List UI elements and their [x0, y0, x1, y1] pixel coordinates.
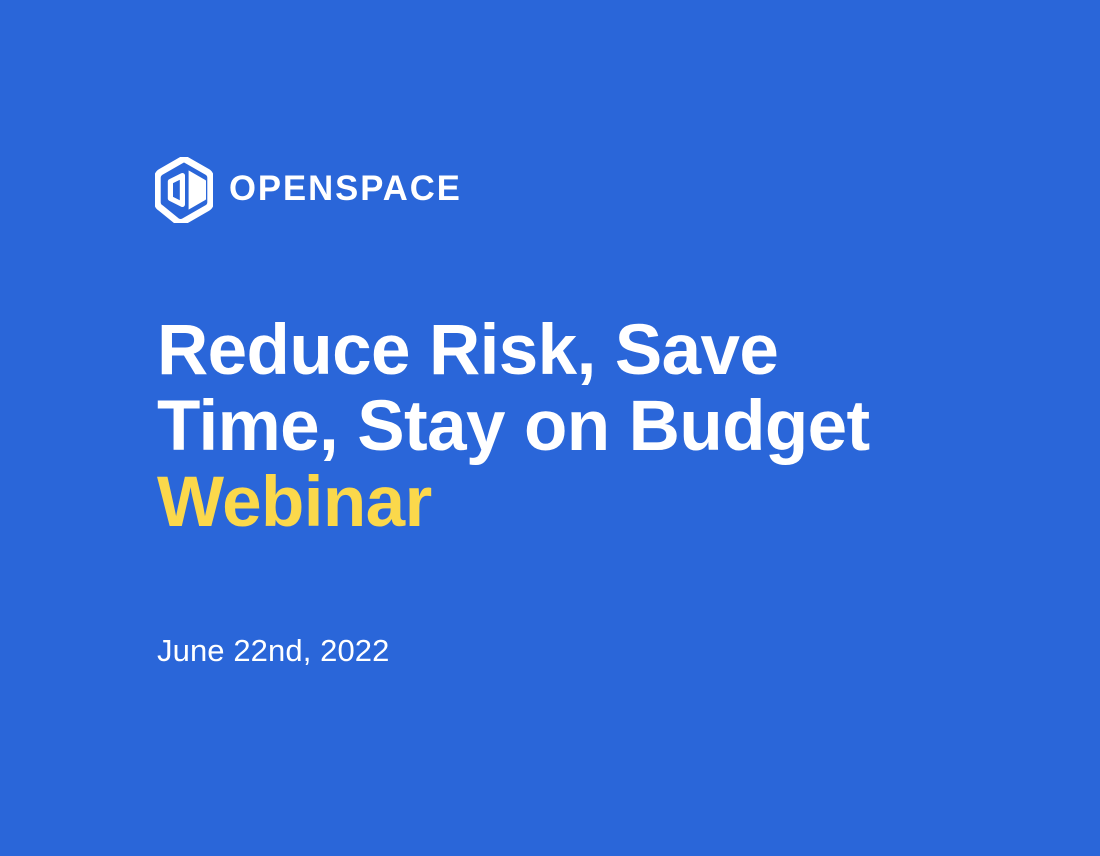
- title-line-3-accent: Webinar: [157, 465, 997, 541]
- openspace-cube-icon: [155, 157, 213, 223]
- page-title: Reduce Risk, Save Time, Stay on Budget W…: [157, 313, 997, 541]
- event-date: June 22nd, 2022: [157, 632, 390, 670]
- title-line-1: Reduce Risk, Save: [157, 313, 997, 389]
- title-line-2: Time, Stay on Budget: [157, 389, 997, 465]
- brand-logo-lockup: OPENSPACE: [155, 155, 464, 225]
- title-slide: OPENSPACE Reduce Risk, Save Time, Stay o…: [0, 0, 1100, 856]
- brand-wordmark: OPENSPACE: [229, 171, 462, 209]
